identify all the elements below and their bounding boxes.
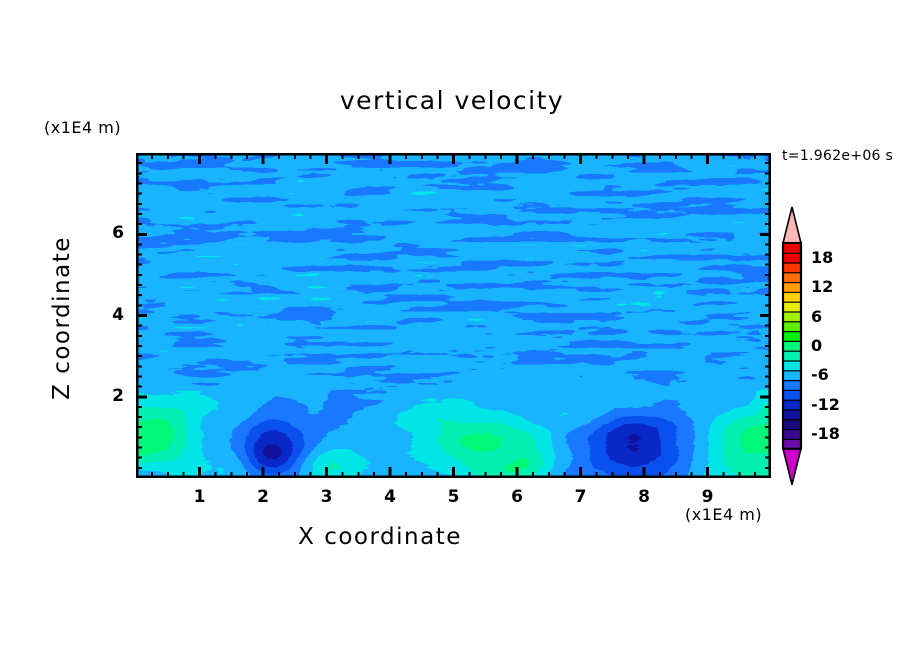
chart-title: vertical velocity (0, 86, 904, 115)
colorbar-tick-label: -12 (811, 395, 840, 414)
colorbar-tick-label: -18 (811, 424, 840, 443)
x-tick-label: 6 (497, 487, 537, 507)
x-tick-label: 4 (370, 487, 410, 507)
z-axis-unit-label: (x1E4 m) (44, 118, 121, 137)
x-tick-label: 1 (180, 487, 220, 507)
x-tick-label: 7 (561, 487, 601, 507)
y-tick-label: 4 (98, 305, 124, 325)
x-axis-unit-label: (x1E4 m) (685, 505, 762, 524)
colorbar-tick-label: 18 (811, 248, 833, 267)
figure-canvas: vertical velocity (x1E4 m) (x1E4 m) X co… (0, 0, 904, 654)
x-axis-title: X coordinate (0, 524, 760, 550)
colorbar-tick-label: 0 (811, 336, 822, 355)
colorbar-tick-label: -6 (811, 365, 829, 384)
x-tick-label: 2 (243, 487, 283, 507)
y-axis-title: Z coordinate (49, 218, 75, 418)
contour-plot (136, 153, 771, 478)
colorbar (779, 205, 809, 515)
y-tick-label: 2 (98, 386, 124, 406)
x-tick-label: 8 (624, 487, 664, 507)
time-annotation: t=1.962e+06 s (782, 148, 893, 164)
y-tick-label: 6 (98, 223, 124, 243)
colorbar-tick-label: 12 (811, 277, 833, 296)
colorbar-tick-label: 6 (811, 307, 822, 326)
x-tick-label: 5 (434, 487, 474, 507)
x-tick-label: 3 (307, 487, 347, 507)
x-tick-label: 9 (688, 487, 728, 507)
